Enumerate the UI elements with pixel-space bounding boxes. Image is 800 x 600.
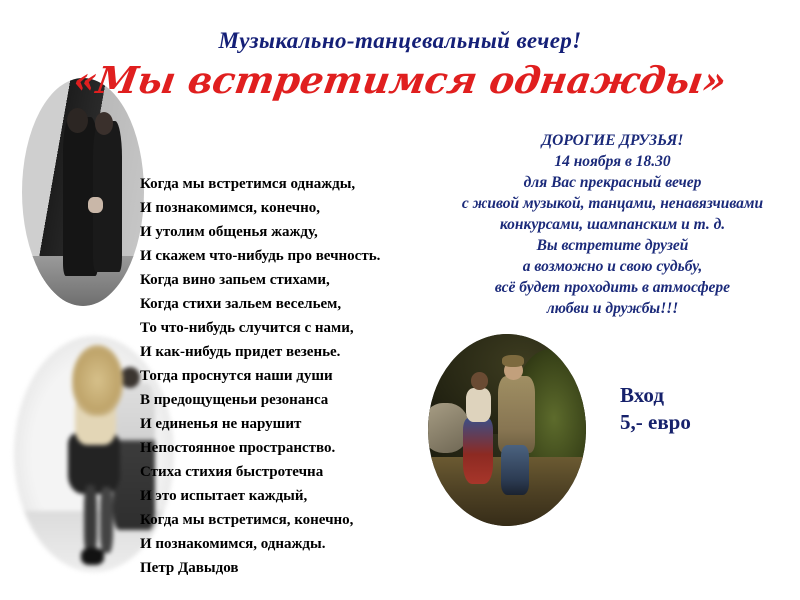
poem-line: Стиха стихия быстротечна bbox=[140, 460, 450, 484]
couple-photo-hands bbox=[88, 197, 103, 213]
poem-line: Когда стихи зальем весельем, bbox=[140, 292, 450, 316]
poem-line: Когда вино запьем стихами, bbox=[140, 268, 450, 292]
poem-line: Когда мы встретимся однажды, bbox=[140, 172, 450, 196]
poem-line: И скажем что-нибудь про вечность. bbox=[140, 244, 450, 268]
dancers-photo-woman-shoe bbox=[81, 548, 103, 565]
poem-author: Петр Давыдов bbox=[140, 556, 450, 580]
dancers-photo-woman-leg-right bbox=[100, 487, 113, 553]
invitation-line: любви и дружбы!!! bbox=[425, 298, 800, 319]
poster-title-primary: Музыкально-танцевальный вечер! bbox=[0, 28, 800, 54]
poem-line: То что-нибудь случится с нами, bbox=[140, 316, 450, 340]
invitation-line: для Вас прекрасный вечер bbox=[425, 172, 800, 193]
invitation-block: ДОРОГИЕ ДРУЗЬЯ! 14 ноября в 18.30 для Ва… bbox=[425, 130, 800, 319]
poster-canvas: Музыкально-танцевальный вечер! «Мы встре… bbox=[0, 0, 800, 600]
invitation-line: а возможно и свою судьбу, bbox=[425, 256, 800, 277]
couple-photo bbox=[22, 78, 144, 306]
entrance-amount: 5,- евро bbox=[620, 409, 691, 436]
price-block: Вход 5,- евро bbox=[620, 382, 691, 436]
poem-line: В предощущеньи резонанса bbox=[140, 388, 450, 412]
painting-man-hat bbox=[502, 355, 524, 367]
poster-title-script: «Мы встретимся однажды» bbox=[0, 58, 800, 102]
poem-line: И единенья не нарушит bbox=[140, 412, 450, 436]
classical-painting bbox=[428, 334, 586, 526]
couple-photo-man-head bbox=[67, 108, 88, 133]
invitation-line: Вы встретите друзей bbox=[425, 235, 800, 256]
entrance-label: Вход bbox=[620, 382, 691, 409]
poem-block: Когда мы встретимся однажды, И познакоми… bbox=[140, 172, 450, 580]
painting-man-legs bbox=[501, 445, 529, 495]
dancers-photo-woman-hair bbox=[72, 345, 123, 416]
painting-woman-blouse bbox=[466, 388, 491, 423]
dancers-photo-woman-leg-left bbox=[84, 485, 97, 556]
painting-man-coat bbox=[498, 376, 536, 453]
poem-line: И утолим общенья жажду, bbox=[140, 220, 450, 244]
poem-line: Тогда проснутся наши души bbox=[140, 364, 450, 388]
poem-line: Когда мы встретимся, конечно, bbox=[140, 508, 450, 532]
invitation-line: 14 ноября в 18.30 bbox=[425, 151, 800, 172]
poem-line: И познакомимся, однажды. bbox=[140, 532, 450, 556]
painting-woman-skirt bbox=[463, 418, 493, 483]
poem-line: И как-нибудь придет везенье. bbox=[140, 340, 450, 364]
invitation-line: конкурсами, шампанским и т. д. bbox=[425, 214, 800, 235]
poem-line: И познакомимся, конечно, bbox=[140, 196, 450, 220]
invitation-line: с живой музыкой, танцами, ненавязчивами bbox=[425, 193, 800, 214]
poem-line: И это испытает каждый, bbox=[140, 484, 450, 508]
poem-line: Непостоянное пространство. bbox=[140, 436, 450, 460]
invitation-line: ДОРОГИЕ ДРУЗЬЯ! bbox=[425, 130, 800, 151]
invitation-line: всё будет проходить в атмосфере bbox=[425, 277, 800, 298]
painting-woman-head bbox=[471, 372, 488, 389]
